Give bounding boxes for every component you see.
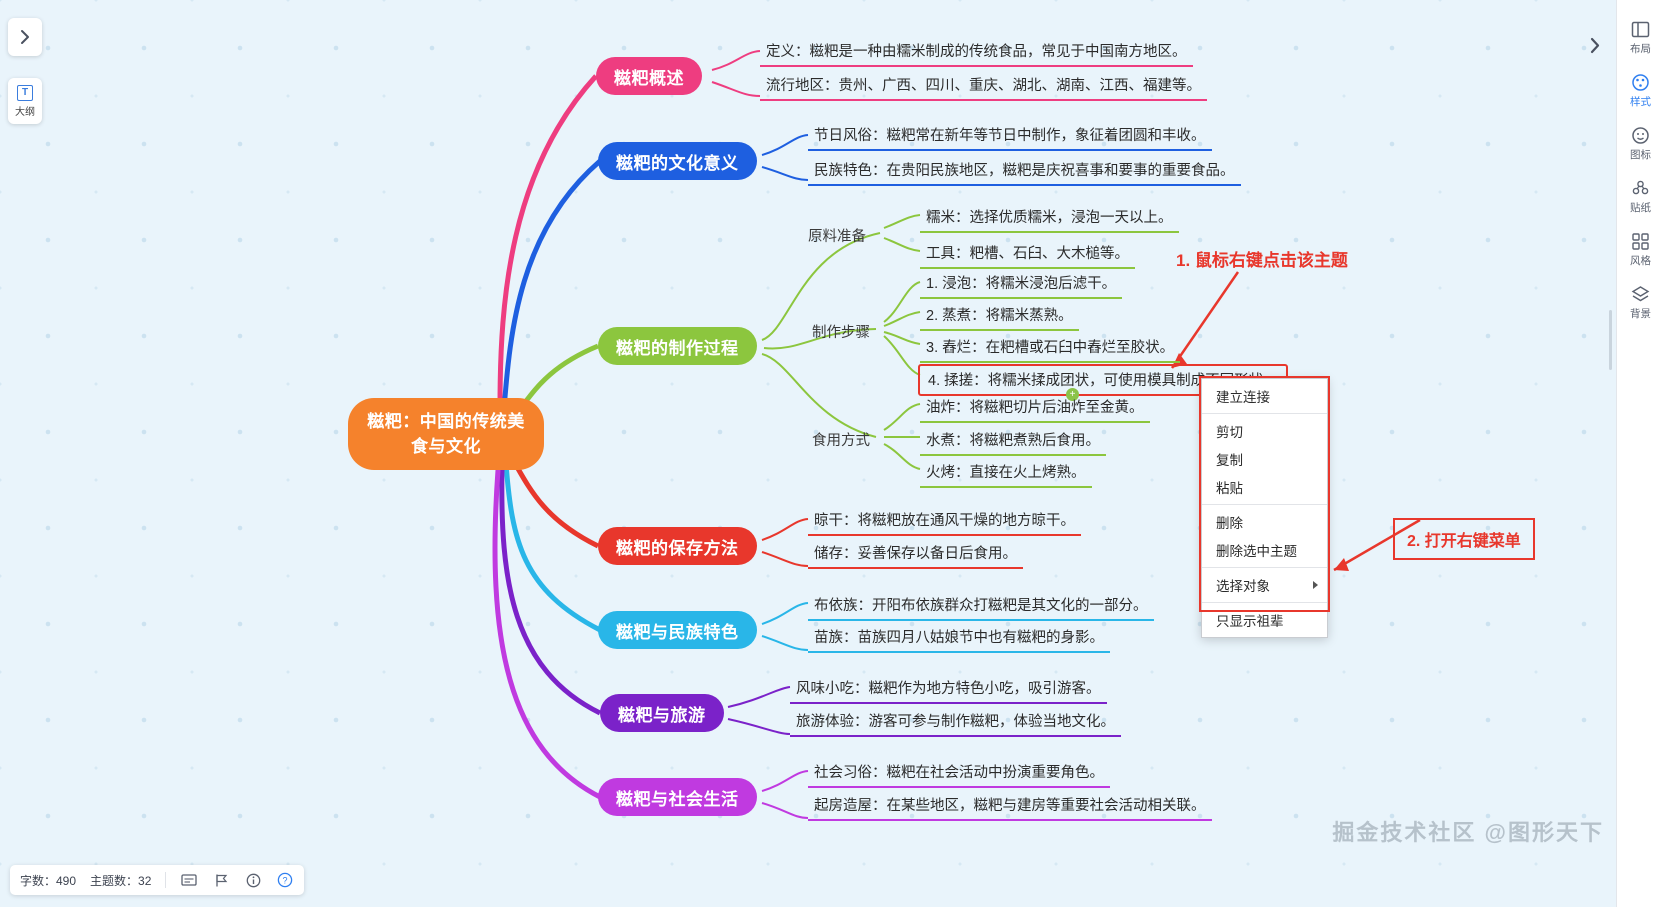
chevron-right-icon <box>1588 37 1602 54</box>
outline-text-icon: T <box>17 85 33 101</box>
tool-background[interactable]: 背景 <box>1617 275 1664 328</box>
layers-background-icon <box>1631 284 1651 304</box>
annotation-step-1: 1. 鼠标右键点击该主题 <box>1176 246 1348 271</box>
topic-count-label: 主题数：32 <box>90 872 151 889</box>
leaf-material-rice[interactable]: 糯米：选择优质糯米，浸泡一天以上。 <box>920 204 1179 233</box>
right-panel-collapse-button[interactable] <box>1582 32 1608 58</box>
left-panel-collapse-button[interactable] <box>8 18 42 56</box>
subtopic-steps[interactable]: 制作步骤 <box>812 321 870 342</box>
subtopic-materials[interactable]: 原料准备 <box>808 225 866 246</box>
tool-layout[interactable]: 布局 <box>1617 10 1664 63</box>
tool-layout-label: 布局 <box>1630 41 1651 56</box>
leaf-step-soak[interactable]: 1. 浸泡：将糯米浸泡后滤干。 <box>920 270 1122 299</box>
menu-separator-4 <box>1202 602 1327 603</box>
leaf-storage-keep[interactable]: 储存：妥善保存以备日后食用。 <box>808 540 1023 569</box>
help-icon[interactable]: ? <box>276 871 294 889</box>
tool-icons-label: 图标 <box>1630 147 1651 162</box>
chevron-right-icon <box>19 29 32 45</box>
central-topic[interactable]: 糍粑：中国的传统美食与文化 <box>348 398 544 470</box>
leaf-tourism-experience[interactable]: 旅游体验：游客可参与制作糍粑，体验当地文化。 <box>790 708 1121 737</box>
leaf-tourism-snack[interactable]: 风味小吃：糍粑作为地方特色小吃，吸引游客。 <box>790 675 1107 704</box>
leaf-culture-festival[interactable]: 节日风俗：糍粑常在新年等节日中制作，象征着团圆和丰收。 <box>808 122 1212 151</box>
menu-item-copy[interactable]: 复制 <box>1202 445 1327 473</box>
layout-icon <box>1631 19 1651 39</box>
menu-item-select-object-label: 选择对象 <box>1216 575 1270 595</box>
menu-item-cut[interactable]: 剪切 <box>1202 417 1327 445</box>
submenu-arrow-icon <box>1313 581 1318 589</box>
leaf-social-custom[interactable]: 社会习俗：糍粑在社会活动中扮演重要角色。 <box>808 759 1110 788</box>
outline-panel-button[interactable]: T 大纲 <box>8 78 42 124</box>
leaf-eat-fry[interactable]: 油炸：将糍粑切片后油炸至金黄。 <box>920 394 1150 423</box>
menu-separator-1 <box>1202 413 1327 414</box>
svg-text:?: ? <box>283 876 288 886</box>
branch-topic-process[interactable]: 糍粑的制作过程 <box>598 327 757 365</box>
menu-item-delete-selected-topic[interactable]: 删除选中主题 <box>1202 536 1327 564</box>
branch-topic-ethnic[interactable]: 糍粑与民族特色 <box>598 611 757 649</box>
style-palette-icon <box>1631 72 1651 92</box>
branch-topic-social[interactable]: 糍粑与社会生活 <box>598 778 757 816</box>
leaf-step-steam[interactable]: 2. 蒸煮：将糯米蒸熟。 <box>920 302 1079 331</box>
leaf-eat-boil[interactable]: 水煮：将糍粑煮熟后食用。 <box>920 427 1106 456</box>
branch-topic-storage[interactable]: 糍粑的保存方法 <box>598 527 757 565</box>
sticker-icon <box>1631 178 1651 198</box>
menu-item-delete[interactable]: 删除 <box>1202 508 1327 536</box>
menu-item-select-object[interactable]: 选择对象 <box>1202 571 1327 599</box>
leaf-ethnic-miao[interactable]: 苗族：苗族四月八姑娘节中也有糍粑的身影。 <box>808 624 1110 653</box>
tool-stickers[interactable]: 贴纸 <box>1617 169 1664 222</box>
context-menu[interactable]: 建立连接 剪切 复制 粘贴 删除 删除选中主题 选择对象 只显示祖辈 <box>1201 378 1328 638</box>
tool-style-label: 样式 <box>1630 94 1651 109</box>
tool-stickers-label: 贴纸 <box>1630 200 1651 215</box>
leaf-material-tools[interactable]: 工具：粑槽、石臼、大木槌等。 <box>920 240 1135 269</box>
grid-style-icon <box>1631 231 1651 251</box>
annotation-step-2: 2. 打开右键菜单 <box>1393 518 1535 560</box>
menu-item-paste[interactable]: 粘贴 <box>1202 473 1327 501</box>
tool-icons[interactable]: 图标 <box>1617 116 1664 169</box>
info-icon[interactable] <box>244 871 262 889</box>
leaf-culture-ethnic[interactable]: 民族特色：在贵阳民族地区，糍粑是庆祝喜事和要事的重要食品。 <box>808 157 1241 186</box>
leaf-step-pound[interactable]: 3. 舂烂：在粑槽或石臼中舂烂至胶状。 <box>920 334 1180 363</box>
word-count-label: 字数：490 <box>20 872 76 889</box>
outline-panel-label: 大纲 <box>15 103 35 118</box>
menu-separator-2 <box>1202 504 1327 505</box>
branch-topic-overview[interactable]: 糍粑概述 <box>596 57 702 95</box>
menu-item-create-link[interactable]: 建立连接 <box>1202 382 1327 410</box>
tool-theme[interactable]: 风格 <box>1617 222 1664 275</box>
leaf-ethnic-buyi[interactable]: 布依族：开阳布依族群众打糍粑是其文化的一部分。 <box>808 592 1154 621</box>
status-divider <box>165 872 166 888</box>
leaf-social-house[interactable]: 起房造屋：在某些地区，糍粑与建房等重要社会活动相关联。 <box>808 792 1212 821</box>
subtopic-eating[interactable]: 食用方式 <box>812 429 870 450</box>
tool-style[interactable]: 样式 <box>1617 63 1664 116</box>
watermark-text: 掘金技术社区 @图形天下 <box>1332 815 1604 847</box>
tool-theme-label: 风格 <box>1630 253 1651 268</box>
leaf-overview-regions[interactable]: 流行地区：贵州、广西、四川、重庆、湖北、湖南、江西、福建等。 <box>760 72 1207 101</box>
canvas-scrollbar[interactable] <box>1609 310 1612 370</box>
menu-separator-3 <box>1202 567 1327 568</box>
status-bar: 字数：490 主题数：32 ? <box>10 865 304 895</box>
leaf-overview-definition[interactable]: 定义：糍粑是一种由糯米制成的传统食品，常见于中国南方地区。 <box>760 38 1193 67</box>
leaf-eat-roast[interactable]: 火烤：直接在火上烤熟。 <box>920 459 1092 488</box>
branch-topic-culture[interactable]: 糍粑的文化意义 <box>598 142 757 180</box>
branch-topic-tourism[interactable]: 糍粑与旅游 <box>600 694 724 732</box>
menu-item-show-ancestors-only[interactable]: 只显示祖辈 <box>1202 606 1327 634</box>
tool-background-label: 背景 <box>1630 306 1651 321</box>
note-icon[interactable] <box>180 871 198 889</box>
right-toolbar[interactable]: 布局 样式 图标 贴纸 风格 背景 <box>1616 0 1664 907</box>
flag-icon[interactable] <box>212 871 230 889</box>
leaf-storage-dry[interactable]: 晾干：将糍粑放在通风干燥的地方晾干。 <box>808 507 1081 536</box>
smiley-icon <box>1631 125 1651 145</box>
